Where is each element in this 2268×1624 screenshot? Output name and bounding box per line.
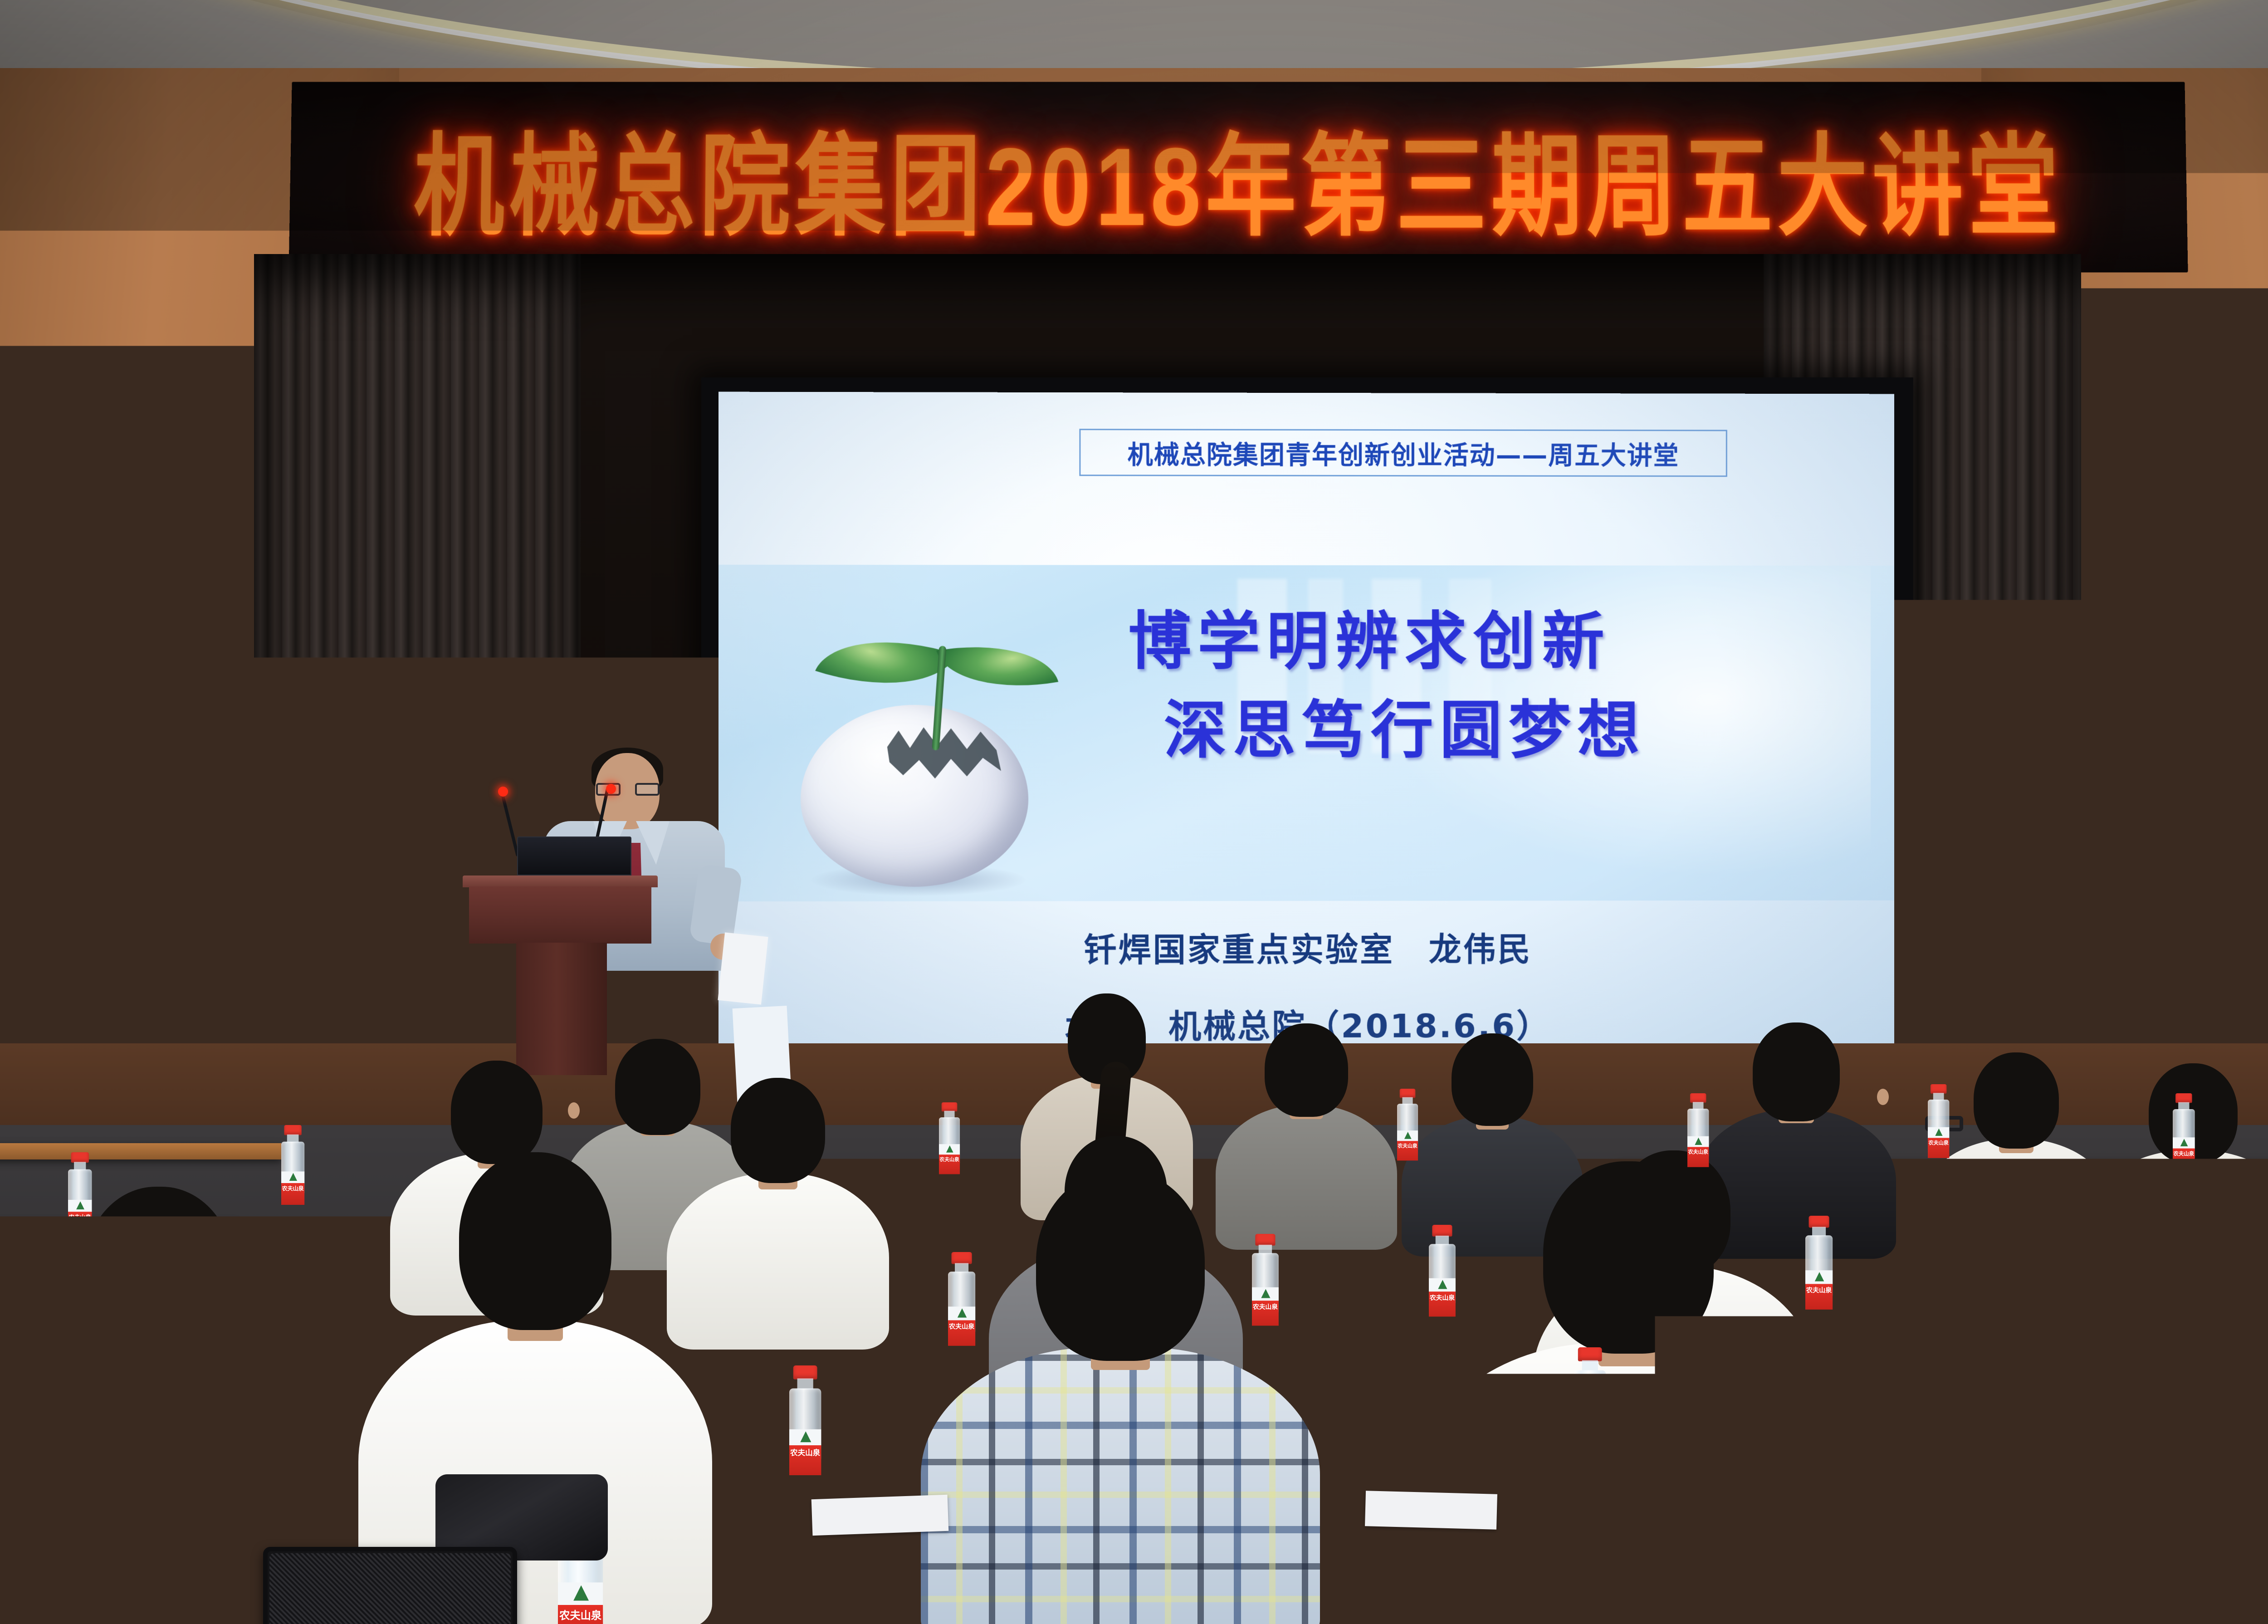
handout-paper	[811, 1495, 949, 1536]
person-head	[84, 1187, 234, 1359]
backpack	[2059, 1497, 2223, 1615]
bottle-brand-label: 农夫山泉	[0, 1458, 32, 1467]
podium-laptop	[517, 836, 631, 876]
bottle-brand-label: 农夫山泉	[2173, 1151, 2195, 1157]
led-banner-text: 机械总院集团2018年第三期周五大讲堂	[289, 97, 2188, 257]
bottle-brand-label: 农夫山泉	[939, 1157, 960, 1163]
person-head	[1753, 1022, 1840, 1121]
projection-screen: 机械总院集团青年创新创业活动——周五大讲堂 博学明辨求创新 深思笃行圆梦想 钎焊…	[719, 392, 1894, 1057]
person-head	[2264, 1208, 2268, 1390]
bottle-brand-label: 农夫山泉	[1932, 1592, 1979, 1604]
bottle-brand-label: 农夫山泉	[68, 1215, 92, 1221]
chair[interactable]	[889, 1542, 1161, 1624]
person-head	[1543, 1161, 1714, 1354]
ptz-camera-icon	[1899, 739, 1971, 807]
handout-paper	[1365, 1491, 1497, 1530]
slide-title-line2: 深思笃行圆梦想	[1164, 686, 1835, 775]
led-banner-display: 机械总院集团2018年第三期周五大讲堂	[288, 82, 2188, 272]
chair[interactable]	[1560, 1533, 1842, 1624]
bottle-brand-label: 农夫山泉	[948, 1324, 975, 1331]
egg-shape	[801, 705, 1028, 887]
egg-sprout-graphic	[773, 591, 1065, 882]
side-table-left-back	[0, 1143, 281, 1159]
chair[interactable]	[263, 1547, 517, 1624]
bottle-brand-label: 农夫山泉	[2204, 1280, 2232, 1287]
slide-title-line1: 博学明辨求创新	[1129, 597, 1835, 686]
bottle-brand-label: 农夫山泉	[1252, 1304, 1279, 1311]
bottle-brand-label: 农夫山泉	[1397, 1144, 1418, 1149]
person-head	[1452, 1033, 1533, 1126]
bottle-brand-label: 农夫山泉	[1574, 1431, 1606, 1439]
slide-title: 博学明辨求创新 深思笃行圆梦想	[1129, 597, 1835, 775]
bottle-brand-label: 农夫山泉	[1429, 1295, 1456, 1302]
handout-paper	[1946, 1278, 2046, 1306]
person-head	[1265, 1023, 1348, 1117]
bottle-brand-label: 农夫山泉	[558, 1610, 603, 1622]
microphone-left-led	[498, 787, 508, 797]
person-head	[1036, 1170, 1205, 1361]
bottle-brand-label: 农夫山泉	[1946, 1269, 1973, 1277]
slide-header-box: 机械总院集团青年创新创业活动——周五大讲堂	[1079, 429, 1727, 477]
bottle-brand-label: 农夫山泉	[1928, 1140, 1949, 1146]
microphone-right-led	[606, 784, 616, 794]
person-head	[451, 1061, 543, 1164]
person-head	[731, 1078, 825, 1183]
person-head	[459, 1152, 611, 1330]
bottle-brand-label: 农夫山泉	[1878, 1422, 1910, 1430]
bottle-brand-label: 农夫山泉	[789, 1449, 821, 1458]
person-head	[1974, 1052, 2059, 1149]
lecture-hall-photo: 机械总院集团2018年第三期周五大讲堂 机械总院集团青年创新创业活动——周五大讲…	[0, 0, 2268, 1624]
sprout-leaf-right-icon	[936, 632, 1058, 701]
bottle-brand-label: 农夫山泉	[1805, 1287, 1833, 1295]
slide-header-text: 机械总院集团青年创新创业活动——周五大讲堂	[1128, 434, 1680, 472]
chair[interactable]	[748, 1424, 939, 1506]
slide-credit-line1: 钎焊国家重点实验室 龙伟民	[719, 922, 1894, 971]
bottle-brand-label: 农夫山泉	[281, 1186, 304, 1192]
handout-paper	[1841, 1482, 1978, 1521]
chair[interactable]	[0, 1538, 209, 1624]
bottle-brand-label: 农夫山泉	[1687, 1150, 1709, 1155]
speaker-paper	[718, 932, 768, 1004]
